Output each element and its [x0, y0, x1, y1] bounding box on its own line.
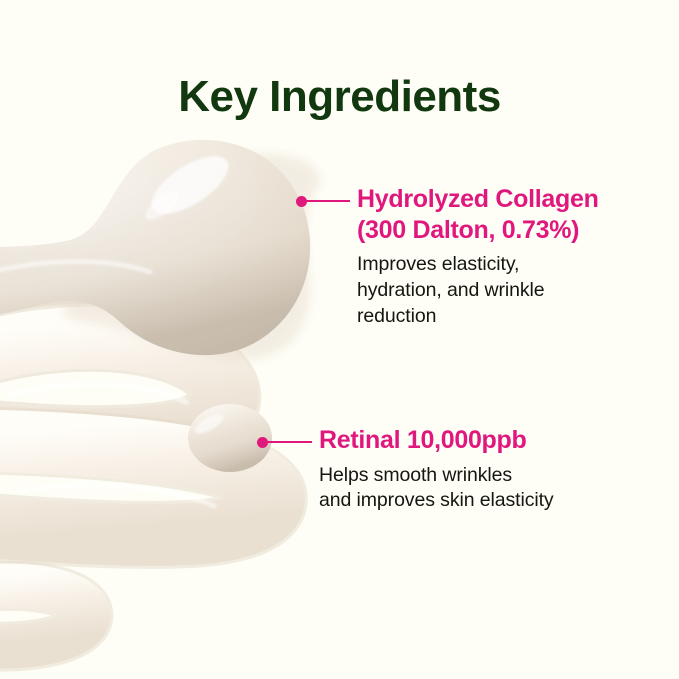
key-ingredients-infographic: Key Ingredients Hydrolyzed Collagen (300… — [0, 0, 679, 679]
ingredient-description: Improves elasticity, hydration, and wrin… — [357, 252, 657, 330]
page-title: Key Ingredients — [0, 73, 679, 121]
cream-ribbon — [0, 272, 274, 647]
cream-fold-highlights — [0, 262, 214, 507]
ingredient-name: Retinal 10,000ppb — [319, 425, 639, 456]
ingredient-description: Helps smooth wrinkles and improves skin … — [319, 463, 639, 515]
cream-droplet — [0, 140, 320, 360]
callout-leader-line — [306, 200, 350, 202]
callout-text-block: Retinal 10,000ppb Helps smooth wrinkles … — [319, 425, 639, 514]
callout-leader-line — [267, 441, 312, 443]
callout-text-block: Hydrolyzed Collagen (300 Dalton, 0.73%) … — [357, 184, 657, 330]
ingredient-name: Hydrolyzed Collagen (300 Dalton, 0.73%) — [357, 184, 657, 245]
